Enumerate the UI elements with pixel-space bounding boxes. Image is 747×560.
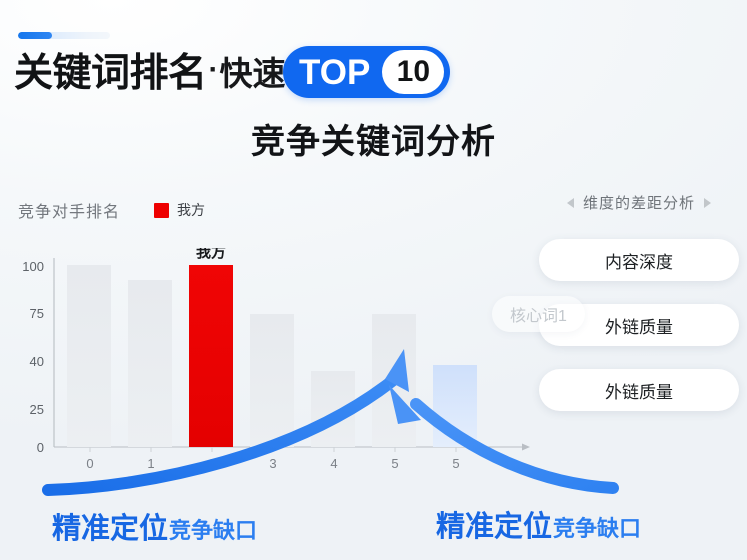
svg-text:4: 4 — [330, 456, 337, 471]
dimension-pill-2[interactable]: 外链质量 — [539, 369, 739, 411]
svg-text:40: 40 — [30, 354, 44, 369]
svg-text:75: 75 — [30, 306, 44, 321]
dimension-pill-label: 内容深度 — [605, 248, 673, 273]
headline: 关键词排名 · 快速 — [14, 44, 286, 102]
progress-indicator — [18, 32, 110, 39]
highlight-annotation: 我方 — [196, 248, 226, 261]
bar-5 — [372, 314, 416, 447]
y-axis-labels: 100 75 40 25 0 — [22, 259, 44, 455]
bar-chart: 100 75 40 25 0 — [10, 248, 540, 480]
top-badge-rank: 10 — [382, 50, 444, 94]
headline-separator: · — [209, 55, 219, 85]
bar-0 — [67, 265, 111, 447]
chart-svg: 100 75 40 25 0 — [10, 248, 540, 480]
callout-soft-text: 竞争缺口 — [553, 511, 641, 543]
ghost-keyword-label: 核心词1 — [510, 302, 567, 326]
bar-6-forecast — [433, 365, 477, 447]
callout-right: 精准定位 竞争缺口 — [436, 503, 641, 545]
svg-text:3: 3 — [269, 456, 276, 471]
x-axis-labels: 0 1 2 3 4 5 5 — [86, 456, 459, 471]
bar-3 — [250, 314, 294, 447]
legend-swatch-icon — [154, 203, 169, 218]
dimension-pill-label: 外链质量 — [605, 378, 673, 403]
svg-text:5: 5 — [391, 456, 398, 471]
headline-fast-text: 快速 — [220, 57, 286, 90]
dimension-gap-title: 维度的差距分析 — [583, 192, 695, 213]
page-title: 竞争关键词分析 — [0, 114, 747, 163]
chart-title: 竞争对手排名 — [18, 198, 120, 222]
callout-strong-text: 精准定位 — [52, 505, 168, 547]
callout-strong-text: 精准定位 — [436, 503, 552, 545]
svg-text:0: 0 — [37, 440, 44, 455]
triangle-right-icon[interactable] — [704, 198, 711, 208]
svg-text:5: 5 — [452, 456, 459, 471]
svg-text:2: 2 — [208, 456, 215, 471]
ghost-keyword-chip: 核心词1 — [492, 296, 585, 332]
svg-text:100: 100 — [22, 259, 44, 274]
svg-text:0: 0 — [86, 456, 93, 471]
chart-legend: 我方 — [154, 200, 205, 220]
headline-main-text: 关键词排名 — [14, 54, 207, 93]
chart-header: 竞争对手排名 我方 — [18, 198, 205, 222]
triangle-left-icon[interactable] — [567, 198, 574, 208]
bar-2-highlight — [189, 265, 233, 447]
svg-text:1: 1 — [147, 456, 154, 471]
dimension-gap-header: 维度的差距分析 — [539, 192, 739, 213]
dimension-pill-0[interactable]: 内容深度 — [539, 239, 739, 281]
x-axis-arrow-icon — [522, 444, 530, 451]
x-axis-ticks — [90, 447, 456, 452]
dimension-pill-label: 外链质量 — [605, 313, 673, 338]
progress-fill — [18, 32, 52, 39]
bar-1 — [128, 280, 172, 447]
legend-label: 我方 — [177, 200, 205, 220]
slide-canvas: 关键词排名 · 快速 TOP 10 竞争关键词分析 竞争对手排名 我方 — [0, 0, 747, 560]
callout-left: 精准定位 竞争缺口 — [52, 505, 257, 547]
svg-text:25: 25 — [30, 402, 44, 417]
top-rank-badge: TOP 10 — [283, 46, 450, 98]
callout-soft-text: 竞争缺口 — [169, 513, 257, 545]
top-badge-label: TOP — [299, 55, 382, 90]
bar-4 — [311, 371, 355, 447]
